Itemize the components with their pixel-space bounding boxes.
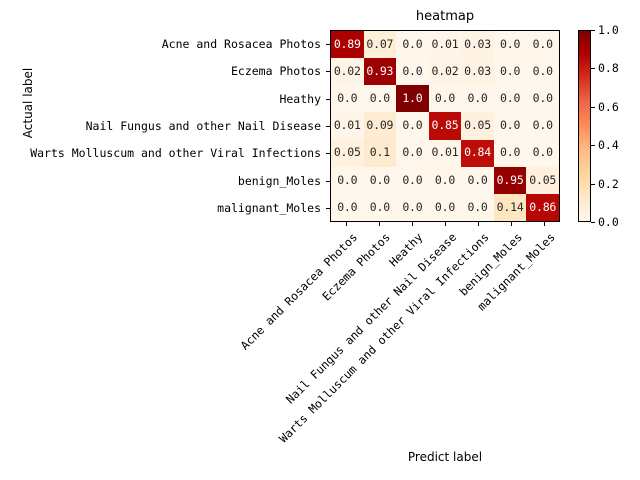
heatmap-cell-value: 0.0 [402, 120, 422, 132]
heatmap-cell: 0.0 [526, 140, 559, 167]
heatmap-cell: 0.0 [494, 140, 527, 167]
heatmap-cell: 0.1 [364, 140, 397, 167]
x-tick-mark [478, 222, 479, 226]
heatmap-cell-value: 0.01 [334, 120, 361, 132]
heatmap-cell: 0.0 [396, 167, 429, 194]
heatmap-cell-value: 0.0 [402, 39, 422, 51]
colorbar-tick-label: 0.0 [598, 215, 619, 229]
heatmap-cell: 0.0 [364, 167, 397, 194]
heatmap-cell-value: 0.0 [500, 147, 520, 159]
heatmap-cell-value: 0.02 [334, 66, 361, 78]
heatmap-cell-value: 0.85 [432, 120, 459, 132]
heatmap-cell-value: 0.0 [402, 202, 422, 214]
heatmap-cell-value: 0.0 [533, 120, 553, 132]
y-tick-label: Nail Fungus and other Nail Disease [0, 112, 323, 139]
heatmap-cell-value: 0.0 [435, 202, 455, 214]
heatmap-cell-value: 0.89 [334, 39, 361, 51]
y-tick-mark [326, 44, 330, 45]
heatmap-cell: 0.0 [364, 85, 397, 112]
x-tick-mark [412, 222, 413, 226]
heatmap-cell: 0.85 [429, 112, 462, 139]
heatmap-cell: 0.95 [494, 167, 527, 194]
chart-title: heatmap [330, 9, 560, 24]
colorbar-tick-mark [591, 30, 595, 31]
colorbar-tick-label: 0.2 [598, 177, 619, 191]
x-tick-mark [346, 222, 347, 226]
heatmap-cell: 0.0 [429, 167, 462, 194]
heatmap-cell-value: 0.0 [337, 202, 357, 214]
heatmap-cell: 0.84 [461, 140, 494, 167]
heatmap-cell: 0.0 [526, 85, 559, 112]
heatmap-cell-value: 0.0 [467, 202, 487, 214]
heatmap-cell-value: 0.0 [435, 93, 455, 105]
heatmap-cell: 0.01 [331, 112, 364, 139]
heatmap-cell: 0.0 [429, 194, 462, 221]
heatmap-cell: 0.86 [526, 194, 559, 221]
heatmap-cell-grid: 0.890.070.00.010.030.00.00.020.930.00.02… [331, 31, 559, 221]
heatmap-cell: 0.0 [461, 85, 494, 112]
heatmap-cell: 0.0 [396, 58, 429, 85]
heatmap-cell: 0.02 [331, 58, 364, 85]
heatmap-cell: 0.03 [461, 58, 494, 85]
heatmap-cell: 0.14 [494, 194, 527, 221]
y-axis-tick-labels: Acne and Rosacea PhotosEczema PhotosHeat… [0, 30, 323, 222]
heatmap-cell-value: 0.86 [529, 202, 556, 214]
heatmap-cell-value: 0.1 [370, 147, 390, 159]
heatmap-cell-value: 0.0 [500, 39, 520, 51]
x-tick-mark [445, 222, 446, 226]
heatmap-cell: 0.0 [396, 112, 429, 139]
heatmap-cell: 0.0 [526, 31, 559, 58]
heatmap-cell-value: 0.02 [432, 66, 459, 78]
heatmap-cell-value: 0.0 [500, 120, 520, 132]
colorbar-tick-label: 0.6 [598, 100, 619, 114]
colorbar-tick-mark [591, 68, 595, 69]
heatmap-cell: 0.0 [526, 112, 559, 139]
heatmap-cell-value: 0.0 [533, 93, 553, 105]
heatmap-cell-value: 0.0 [337, 93, 357, 105]
x-tick-label: Acne and Rosacea Photos [238, 230, 361, 353]
y-tick-label: Eczema Photos [0, 57, 323, 84]
heatmap-cell: 0.0 [494, 31, 527, 58]
colorbar: 1.00.80.60.40.20.0 [578, 30, 591, 222]
heatmap-cell-value: 0.0 [370, 202, 390, 214]
heatmap-cell: 0.0 [494, 85, 527, 112]
colorbar-tick-label: 0.8 [598, 61, 619, 75]
colorbar-tick-mark [591, 145, 595, 146]
heatmap-cell-value: 0.05 [529, 175, 556, 187]
heatmap-cell-value: 0.0 [467, 175, 487, 187]
heatmap-cell: 0.0 [331, 194, 364, 221]
heatmap-cell-value: 0.0 [402, 66, 422, 78]
heatmap-cell: 0.0 [526, 58, 559, 85]
heatmap-cell: 0.0 [331, 85, 364, 112]
y-tick-mark [326, 99, 330, 100]
colorbar-tick-mark [591, 222, 595, 223]
colorbar-tick-mark [591, 184, 595, 185]
heatmap-cell: 0.05 [526, 167, 559, 194]
heatmap-cell: 0.0 [331, 167, 364, 194]
y-tick-label: Heathy [0, 85, 323, 112]
x-axis-title: Predict label [330, 450, 560, 464]
y-tick-mark [326, 181, 330, 182]
x-tick-mark [544, 222, 545, 226]
heatmap-cell: 0.01 [429, 31, 462, 58]
heatmap-cell: 0.0 [396, 140, 429, 167]
heatmap-cell: 0.0 [494, 112, 527, 139]
heatmap-cell: 0.01 [429, 140, 462, 167]
heatmap-cell-value: 0.0 [435, 175, 455, 187]
heatmap-cell: 0.0 [364, 194, 397, 221]
heatmap-cell-value: 0.05 [334, 147, 361, 159]
heatmap-cell: 0.93 [364, 58, 397, 85]
heatmap-cell: 1.0 [396, 85, 429, 112]
heatmap-cell-value: 0.0 [337, 175, 357, 187]
heatmap-cell: 0.0 [461, 167, 494, 194]
heatmap-cell-value: 0.0 [370, 175, 390, 187]
heatmap-cell-value: 1.0 [402, 93, 422, 105]
heatmap-cell-value: 0.0 [370, 93, 390, 105]
heatmap-cell-value: 0.0 [402, 147, 422, 159]
heatmap-cell: 0.07 [364, 31, 397, 58]
colorbar-tick-mark [591, 107, 595, 108]
heatmap-cell-value: 0.93 [366, 66, 393, 78]
heatmap-cell-value: 0.05 [464, 120, 491, 132]
x-axis-tick-labels: Acne and Rosacea PhotosEczema PhotosHeat… [330, 222, 560, 362]
heatmap-cell: 0.05 [331, 140, 364, 167]
heatmap-cell-value: 0.0 [402, 175, 422, 187]
heatmap-cell: 0.03 [461, 31, 494, 58]
heatmap-cell-value: 0.03 [464, 39, 491, 51]
heatmap-cell: 0.0 [396, 194, 429, 221]
heatmap-cell: 0.0 [461, 194, 494, 221]
y-tick-mark [326, 153, 330, 154]
y-tick-mark [326, 71, 330, 72]
y-tick-label: Acne and Rosacea Photos [0, 30, 323, 57]
heatmap-cell-value: 0.0 [533, 39, 553, 51]
x-tick-label: Warts Molluscum and other Viral Infectio… [276, 230, 492, 446]
heatmap-cell-value: 0.14 [497, 202, 524, 214]
y-tick-label: benign_Moles [0, 167, 323, 194]
colorbar-tick-label: 0.4 [598, 138, 619, 152]
heatmap-cell-value: 0.0 [500, 93, 520, 105]
heatmap-plot-area: 0.890.070.00.010.030.00.00.020.930.00.02… [330, 30, 560, 222]
heatmap-cell: 0.02 [429, 58, 462, 85]
x-tick-mark [379, 222, 380, 226]
heatmap-cell-value: 0.84 [464, 147, 491, 159]
heatmap-cell: 0.0 [429, 85, 462, 112]
colorbar-gradient [578, 30, 591, 222]
heatmap-cell: 0.09 [364, 112, 397, 139]
colorbar-tick-label: 1.0 [598, 23, 619, 37]
heatmap-cell-value: 0.0 [467, 93, 487, 105]
x-tick-mark [511, 222, 512, 226]
y-tick-mark [326, 126, 330, 127]
heatmap-cell-value: 0.01 [432, 39, 459, 51]
y-tick-mark [326, 208, 330, 209]
heatmap-cell-value: 0.09 [366, 120, 393, 132]
heatmap-cell-value: 0.95 [497, 175, 524, 187]
heatmap-cell-value: 0.01 [432, 147, 459, 159]
y-tick-label: malignant_Moles [0, 195, 323, 222]
heatmap-cell: 0.0 [494, 58, 527, 85]
y-tick-label: Warts Molluscum and other Viral Infectio… [0, 140, 323, 167]
heatmap-cell-value: 0.0 [533, 66, 553, 78]
heatmap-cell-value: 0.03 [464, 66, 491, 78]
heatmap-cell-value: 0.07 [366, 39, 393, 51]
heatmap-cell: 0.0 [396, 31, 429, 58]
heatmap-cell: 0.89 [331, 31, 364, 58]
heatmap-cell-value: 0.0 [533, 147, 553, 159]
heatmap-cell: 0.05 [461, 112, 494, 139]
heatmap-cell-value: 0.0 [500, 66, 520, 78]
